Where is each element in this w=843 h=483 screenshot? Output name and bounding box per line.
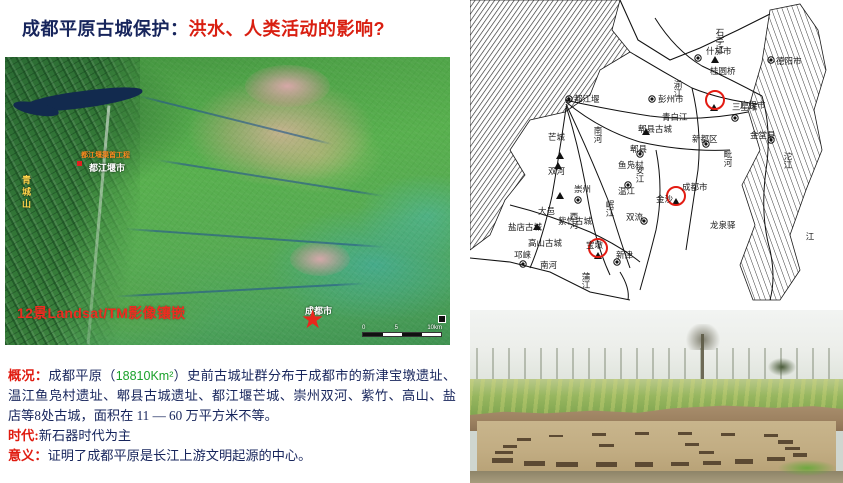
map-label-shuanghe: 双河 <box>548 166 566 176</box>
map-svg: 石亭江 什邡市 桂圆桥 德阳市 湔江 都江堰 彭州市 三星堆 广汉市 青白江 郫… <box>470 0 843 302</box>
canal-marker-dot <box>77 161 82 166</box>
photo-bush <box>768 358 796 376</box>
paragraph-era: 时代:新石器时代为主 <box>8 426 456 446</box>
scale-bar-graphic <box>362 332 442 337</box>
scale-bar-ticks: 0 5 10km <box>362 325 442 331</box>
overview-text-before: 成都平原（ <box>48 368 115 383</box>
map-label-river-pujiang: 蒲江 <box>581 271 591 290</box>
map-label-chengdu-city: 成都市 <box>682 182 708 192</box>
urban-area-chengdu <box>290 242 350 276</box>
map-label-dujiangyan: 都江堰 <box>574 94 600 104</box>
map-label-shifang: 什邡市 <box>706 46 732 56</box>
map-label-guiyuanqiao: 桂圆桥 <box>710 66 736 76</box>
map-label-qionglai: 邛崃 <box>514 250 532 260</box>
map-label-jintang: 金堂县 <box>750 130 776 140</box>
satellite-credit-text: 12景Landsat/TM影像镶嵌 <box>17 303 185 323</box>
map-label-pixian-ancient-city: 郫县古城 <box>638 124 673 134</box>
overview-area-value: 18810Km² <box>116 369 174 383</box>
map-label-river-tuojiang: 沱江 <box>783 151 793 170</box>
body-text-block: 概况：成都平原（18810Km²）史前古城址群分布于成都市的新津宝墩遗址、温江鱼… <box>8 366 456 466</box>
map-label-jinsha: 金沙 <box>656 194 674 204</box>
map-label-xindu: 新都区 <box>692 134 718 144</box>
map-label-river-east: 江 <box>805 232 815 241</box>
map-label-guanghan-city: 广汉市 <box>740 100 766 110</box>
map-label-shuangliu: 双流 <box>626 212 644 222</box>
map-label-yandian-ancient-city: 盐店古城 <box>508 222 543 232</box>
significance-text: 证明了成都平原是长江上游文明起源的中心。 <box>48 448 312 463</box>
satellite-label-canal-project: 都江堰渠首工程 <box>81 152 130 159</box>
map-label-longquanyi: 龙泉驿 <box>710 220 736 230</box>
map-label-pixian: 郫县 <box>630 144 648 154</box>
photo-grass-patch <box>778 460 836 476</box>
north-indicator <box>438 315 446 323</box>
map-label-chongzhou: 崇州 <box>574 184 591 194</box>
map-label-river-xihe: 西河 <box>569 212 579 229</box>
satellite-label-dujiangyan-city: 都江堰市 <box>89 164 125 173</box>
scale-mid: 5 <box>395 325 398 331</box>
map-label-dayi: 大邑 <box>538 206 555 216</box>
scale-start: 0 <box>362 325 365 331</box>
map-label-deyang: 德阳市 <box>776 56 802 66</box>
urban-area-north <box>245 65 330 107</box>
paragraph-overview: 概况：成都平原（18810Km²）史前古城址群分布于成都市的新津宝墩遗址、温江鱼… <box>8 366 456 426</box>
map-label-baodun: 宝墩 <box>586 240 604 250</box>
satellite-label-qingcheng-mountain: 青城山 <box>21 175 30 211</box>
page-title-main: 成都平原古城保护： <box>22 19 189 39</box>
map-label-river-nanhe: 南河 <box>540 260 558 270</box>
satellite-image: 都江堰渠首工程 都江堰市 青城山 成都市 12景Landsat/TM影像镶嵌 0… <box>5 57 450 345</box>
regional-line-map: 石亭江 什邡市 桂圆桥 德阳市 湔江 都江堰 彭州市 三星堆 广汉市 青白江 郫… <box>470 0 843 302</box>
page-title-accent: 洪水、人类活动的影响? <box>189 19 386 39</box>
map-label-pengzhou: 彭州市 <box>658 94 684 104</box>
map-label-gaoshan-ancient-city: 高山古城 <box>528 238 563 248</box>
map-label-river-pihe: 毗河 <box>723 149 733 167</box>
label-overview: 概况： <box>8 368 48 383</box>
slide-root: 成都平原古城保护：洪水、人类活动的影响? 都江堰渠首工程 都江堰市 青城山 成都… <box>0 0 843 483</box>
map-label-river-anjiang: 安江 <box>635 165 645 184</box>
map-label-river-qingbaijiang: 青白江 <box>662 112 688 122</box>
map-label-wenjiang: 温江 <box>618 186 636 196</box>
page-title: 成都平原古城保护：洪水、人类活动的影响? <box>22 14 452 44</box>
label-significance: 意义： <box>8 448 48 463</box>
excavation-site-photo <box>470 310 843 483</box>
map-label-river-minjiang: 岷江 <box>605 200 615 218</box>
scale-bar: 0 5 10km <box>362 325 442 337</box>
paragraph-significance: 意义：证明了成都平原是长江上游文明起源的中心。 <box>8 446 456 466</box>
label-era: 时代: <box>8 428 39 443</box>
map-label-river-nanhe-north: 南河 <box>593 125 603 143</box>
map-label-mangcheng: 芒城 <box>548 132 566 142</box>
scale-end: 10km <box>427 325 442 331</box>
era-text: 新石器时代为主 <box>39 428 131 443</box>
map-label-xinjin: 新津 <box>616 250 634 260</box>
